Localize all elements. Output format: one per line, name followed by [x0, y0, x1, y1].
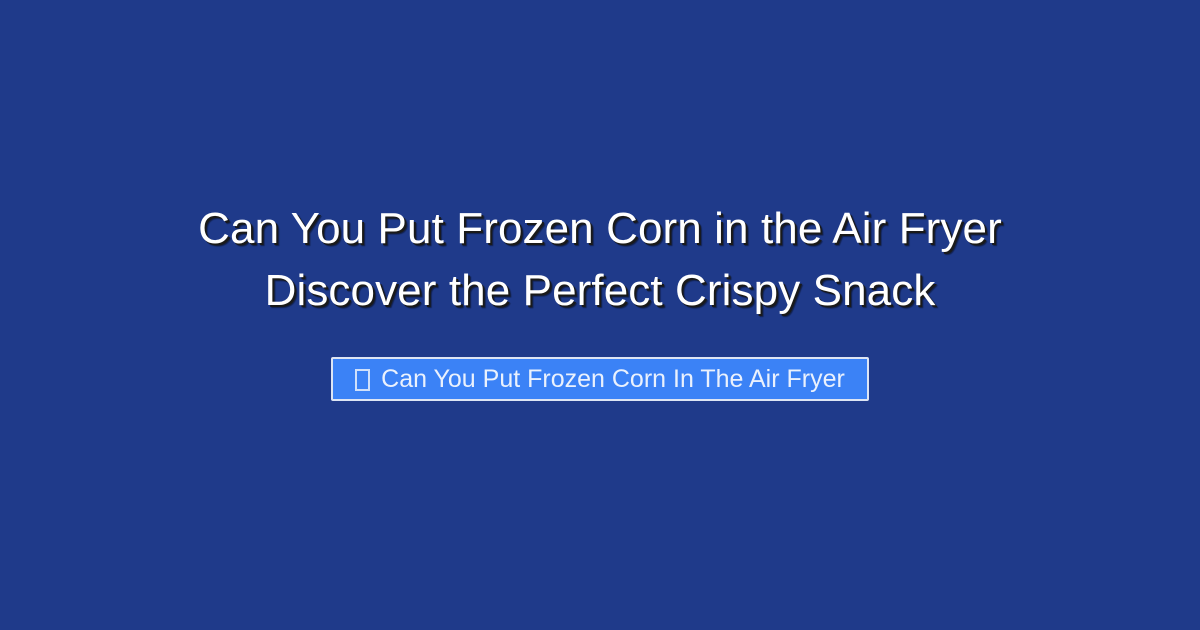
badge-container: Can You Put Frozen Corn In The Air Fryer [0, 357, 1200, 401]
missing-glyph-box-icon [355, 369, 370, 391]
article-link-label: Can You Put Frozen Corn In The Air Fryer [381, 367, 845, 392]
page-title: Can You Put Frozen Corn in the Air Fryer… [0, 198, 1200, 322]
article-link-button[interactable]: Can You Put Frozen Corn In The Air Fryer [331, 357, 869, 401]
page-title-line-2: Discover the Perfect Crispy Snack [60, 260, 1140, 322]
page-title-line-1: Can You Put Frozen Corn in the Air Fryer [60, 198, 1140, 260]
hero-banner: Can You Put Frozen Corn in the Air Fryer… [0, 0, 1200, 630]
